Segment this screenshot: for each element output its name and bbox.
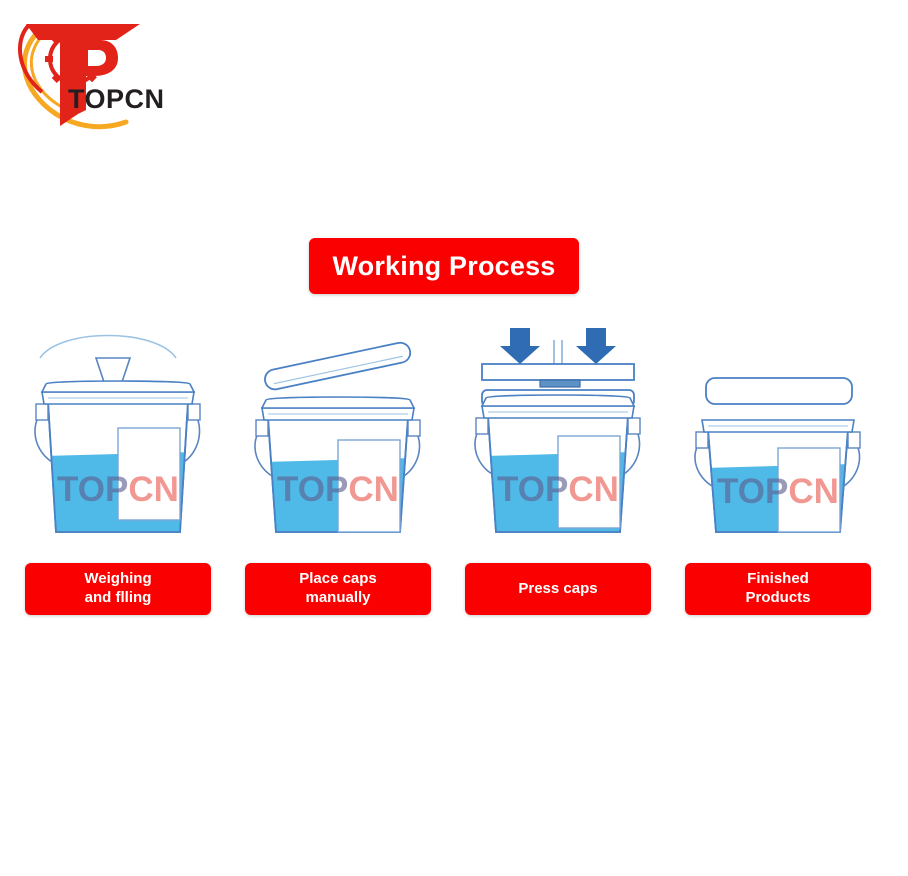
brand-wordmark: TOPCN <box>68 84 165 115</box>
bucket-press-plate-arrows-icon <box>448 320 668 550</box>
step-label-text: Place caps manually <box>299 570 377 608</box>
step-label-text: Weighing and flling <box>84 570 151 608</box>
process-step-1: TOPCN Weighing and flling <box>8 320 228 620</box>
step-label-weighing-and-filling[interactable]: Weighing and flling <box>25 563 211 615</box>
page-title: Working Process <box>332 251 555 282</box>
step-label-finished-products[interactable]: Finished Products <box>685 563 871 615</box>
step-label-text: Press caps <box>518 580 597 599</box>
bucket-closed-lid-icon <box>668 320 888 550</box>
bucket-filling-nozzle-icon <box>8 320 228 550</box>
process-step-4: TOPCN Finished Products <box>668 320 888 620</box>
process-step-3: TOPCN Press caps <box>448 320 668 620</box>
step-label-text: Finished Products <box>745 570 810 608</box>
process-step-2: TOPCN Place caps manually <box>228 320 448 620</box>
step-label-press-caps[interactable]: Press caps <box>465 563 651 615</box>
step-label-place-caps-manually[interactable]: Place caps manually <box>245 563 431 615</box>
topcn-gear-t-logo-icon <box>8 6 188 136</box>
working-process-banner: Working Process <box>309 238 579 294</box>
press-down-arrow-icon <box>500 328 616 364</box>
bucket-tilted-lid-icon <box>228 320 448 550</box>
brand-logo: TOPCN <box>8 6 188 136</box>
